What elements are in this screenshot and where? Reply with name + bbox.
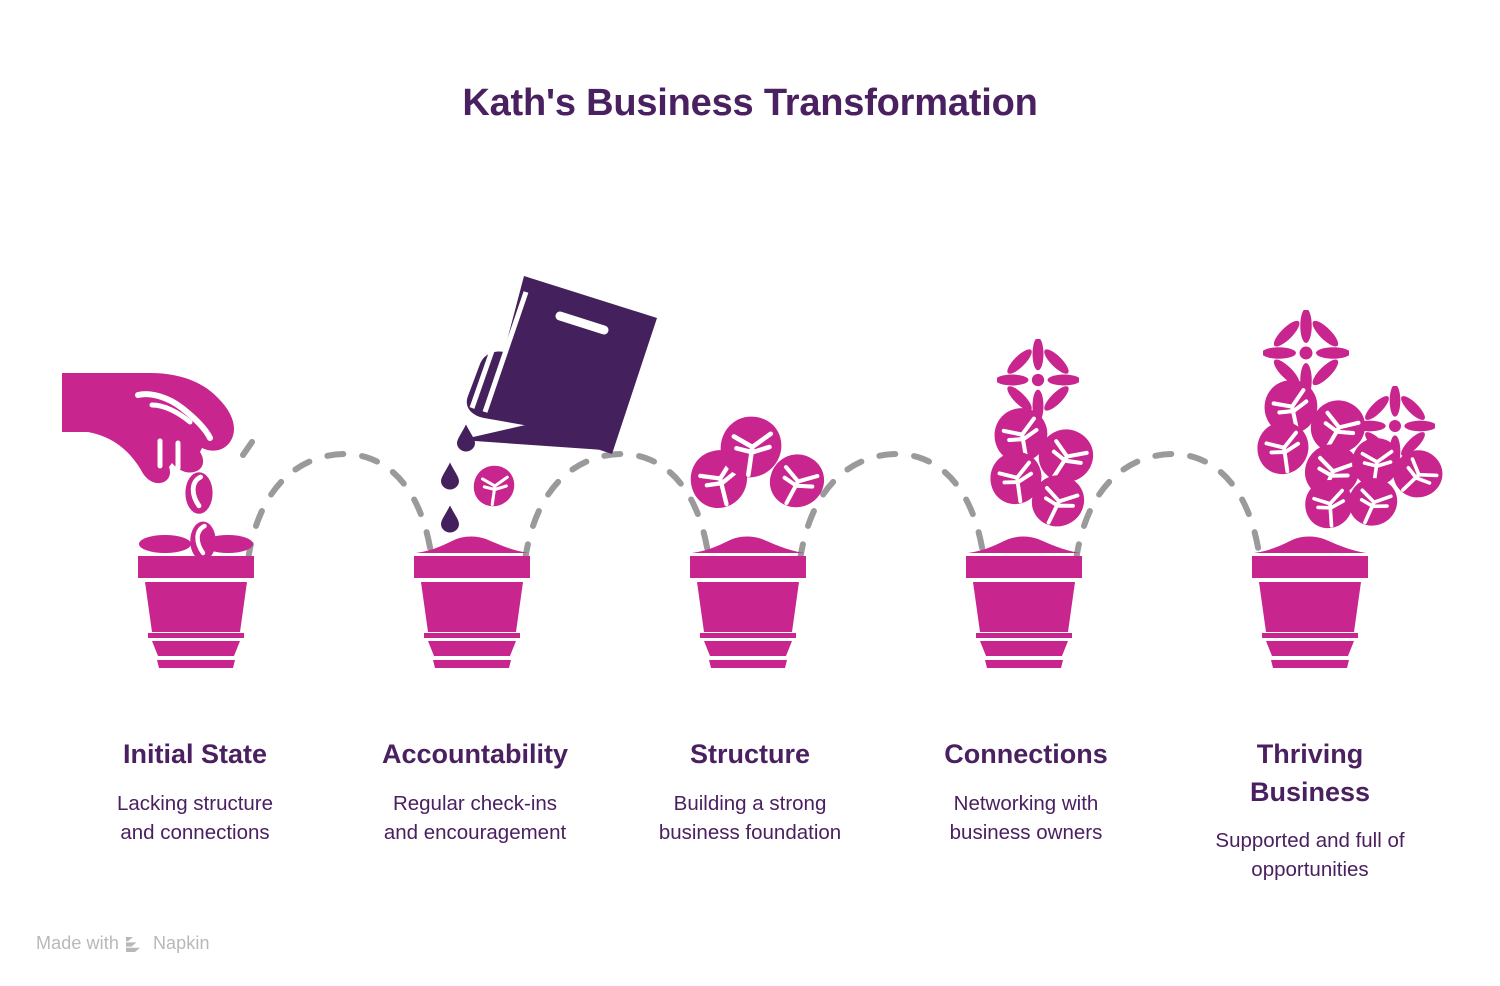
stage-title-accountability: Accountability <box>325 735 625 773</box>
hand-dropping-seeds-icon <box>62 373 234 483</box>
stage-desc-line-2: and connections <box>120 821 269 844</box>
pot-5 <box>1252 556 1368 668</box>
leaf-3-2 <box>721 417 782 478</box>
stage-label-initial-state: Initial State Lacking structure and conn… <box>45 735 345 848</box>
stage-desc-initial-state: Lacking structure and connections <box>45 789 345 847</box>
watermark-brand-text: Napkin <box>153 933 210 954</box>
stage-1-art <box>62 373 254 668</box>
stage-label-accountability: Accountability Regular check-ins and enc… <box>325 735 625 848</box>
soil-2 <box>416 537 528 553</box>
stage-desc-line-2: opportunities <box>1251 858 1368 881</box>
motion-tick <box>243 442 252 455</box>
stage-title-connections: Connections <box>876 735 1176 773</box>
stage-title-structure: Structure <box>600 735 900 773</box>
flower-4-1 <box>996 338 1081 423</box>
stage-2-art <box>414 276 657 668</box>
pot-2 <box>414 556 530 668</box>
pot-1 <box>138 556 254 668</box>
stage-label-structure: Structure Building a strong business fou… <box>600 735 900 848</box>
stage-desc-accountability: Regular check-ins and encouragement <box>325 789 625 847</box>
watermark-made-with-text: Made with <box>36 933 119 954</box>
water-drop-3 <box>441 506 459 533</box>
stage-desc-connections: Networking with business owners <box>876 789 1176 847</box>
pot-3 <box>690 556 806 668</box>
soil-5 <box>1254 537 1366 553</box>
water-drop-2 <box>441 463 459 490</box>
stage-desc-line-2: business foundation <box>659 821 841 844</box>
stage-4-art <box>966 338 1101 668</box>
seed-falling-1 <box>185 472 212 514</box>
sprout-leaf <box>474 466 514 506</box>
stage-desc-line-2: and encouragement <box>384 821 566 844</box>
flower-5-1 <box>1262 309 1351 398</box>
infographic-canvas: Kath's Business Transformation <box>0 0 1500 986</box>
napkin-watermark: Made with Napkin <box>36 933 210 954</box>
stage-desc-line-1: Networking with <box>954 792 1099 815</box>
soil-4 <box>968 537 1080 553</box>
soil-right-mound <box>203 535 253 553</box>
stage-label-connections: Connections Networking with business own… <box>876 735 1176 848</box>
stage-5-art <box>1251 309 1451 668</box>
stage-title-line-1: Thriving <box>1257 739 1364 769</box>
napkin-chevron-logo <box>126 935 146 953</box>
stage-desc-line-2: business owners <box>950 821 1103 844</box>
stage-title-thriving-business: Thriving Business <box>1160 735 1460 812</box>
stage-title-line-2: Business <box>1250 777 1370 807</box>
stage-title-initial-state: Initial State <box>45 735 345 773</box>
stage-desc-thriving-business: Supported and full of opportunities <box>1160 826 1460 884</box>
pot-4 <box>966 556 1082 668</box>
watering-can-icon <box>460 276 657 454</box>
stage-desc-line-1: Supported and full of <box>1215 829 1404 852</box>
stage-label-thriving-business: Thriving Business Supported and full of … <box>1160 735 1460 884</box>
soil-left-mound <box>139 535 191 553</box>
stage-desc-line-1: Building a strong <box>674 792 827 815</box>
stage-desc-structure: Building a strong business foundation <box>600 789 900 847</box>
stage-desc-line-1: Regular check-ins <box>393 792 557 815</box>
stage-desc-line-1: Lacking structure <box>117 792 273 815</box>
water-drop-1 <box>457 425 475 452</box>
